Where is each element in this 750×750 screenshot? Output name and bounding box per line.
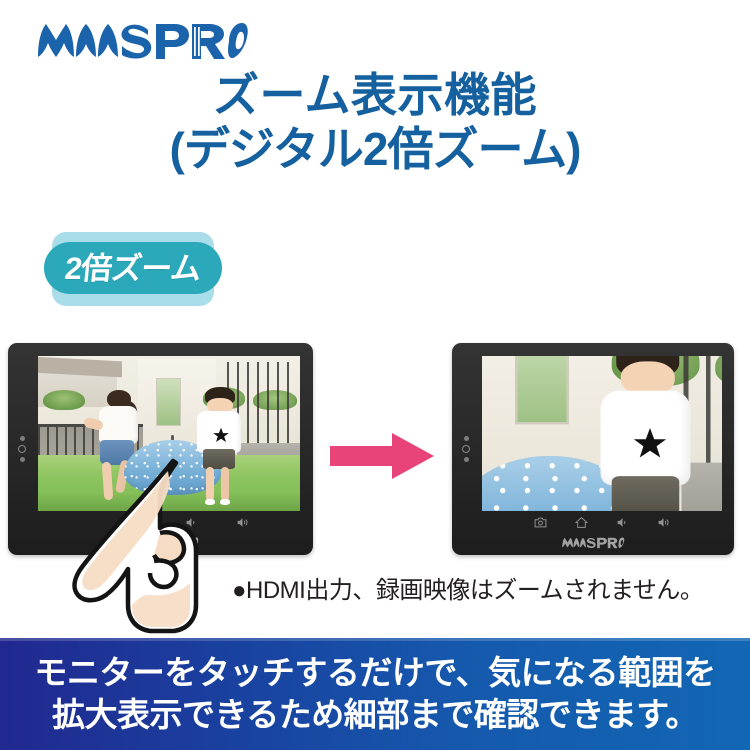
star-graphic-icon: [632, 427, 668, 461]
scene-zoomed: [482, 356, 722, 511]
volume-up-button[interactable]: [236, 516, 249, 529]
side-indicator-rail: [461, 436, 471, 462]
home-button[interactable]: [575, 516, 588, 529]
status-led-icon: [464, 457, 469, 462]
title-line-2: (デジタル2倍ズーム): [0, 122, 750, 176]
banner-line-1: モニターをタッチするだけで、気になる範囲を: [34, 653, 715, 693]
hdmi-note: ●HDMI出力、録画映像はズームされません。: [232, 576, 703, 606]
boy-figure: [585, 356, 715, 511]
home-button[interactable]: [134, 516, 147, 529]
screen-before[interactable]: [38, 356, 300, 511]
zoom-badge: 2倍ズーム: [44, 232, 222, 308]
scene-normal: [38, 356, 300, 511]
volume-down-button[interactable]: [616, 516, 629, 529]
bottom-banner: モニターをタッチするだけで、気になる範囲を 拡大表示できるため細部まで確認できま…: [0, 638, 750, 750]
device-comparison: [0, 340, 750, 565]
volume-up-button[interactable]: [657, 516, 670, 529]
bezel-logo-before: [134, 536, 200, 549]
badge-pill: 2倍ズーム: [44, 242, 222, 294]
monitor-after[interactable]: [452, 343, 734, 555]
maspro-logo: [36, 18, 248, 62]
title-line-1: ズーム表示機能: [0, 68, 750, 122]
monitor-before[interactable]: [8, 343, 313, 555]
device-button-row-before: [38, 516, 313, 529]
banner-line-2: 拡大表示できるため細部まで確認できます。: [52, 695, 698, 735]
star-graphic-icon: [213, 427, 231, 443]
device-button-row-after: [482, 516, 722, 529]
indicator-led-icon: [20, 436, 25, 441]
indicator-led-icon: [464, 436, 469, 441]
zoom-transition-arrow-icon: [330, 432, 434, 480]
power-indicator-icon: [462, 445, 470, 453]
status-led-icon: [20, 457, 25, 462]
camera-button[interactable]: [534, 516, 547, 529]
side-indicator-rail: [17, 436, 27, 462]
badge-label: 2倍ズーム: [64, 253, 203, 284]
bezel-logo-after: [560, 536, 626, 549]
volume-down-button[interactable]: [185, 516, 198, 529]
power-indicator-icon: [18, 445, 26, 453]
screen-after[interactable]: [482, 356, 722, 511]
page-title: ズーム表示機能 (デジタル2倍ズーム): [0, 68, 750, 176]
boy-figure: [190, 387, 253, 505]
